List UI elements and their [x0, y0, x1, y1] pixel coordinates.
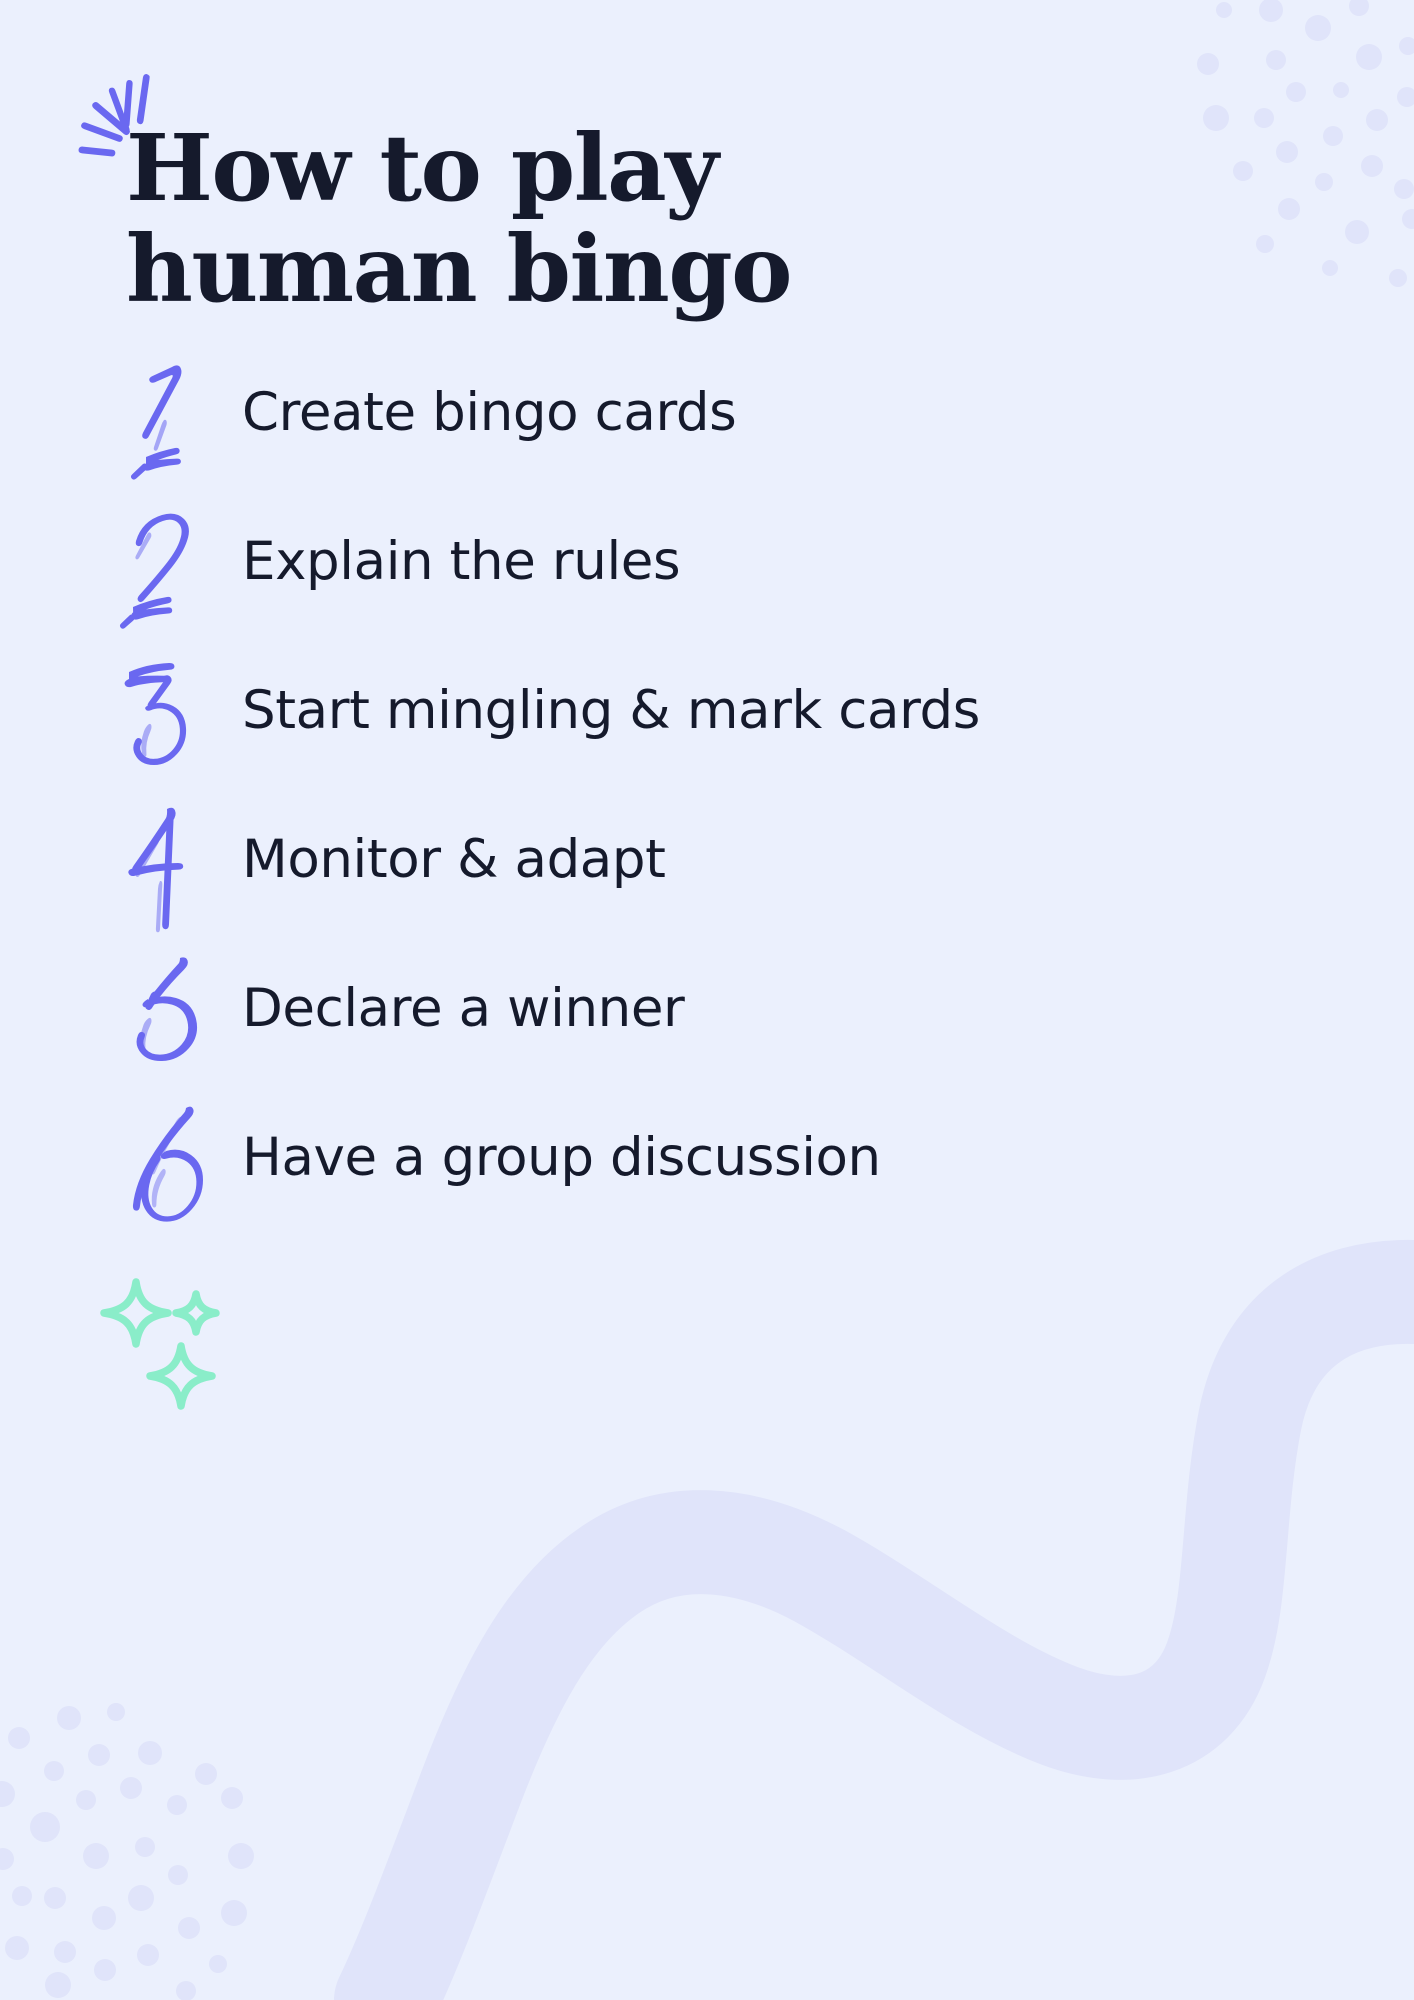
list-item: Monitor & adapt [120, 807, 1300, 956]
sparkle-stars-icon [96, 1268, 226, 1418]
step-number-3-icon [120, 658, 212, 790]
list-item: Have a group discussion [120, 1105, 1300, 1254]
step-number-6-icon [120, 1105, 212, 1237]
step-number-5-icon [120, 956, 212, 1088]
list-item: Explain the rules [120, 509, 1300, 658]
step-label: Monitor & adapt [242, 829, 666, 890]
step-label: Start mingling & mark cards [242, 680, 980, 741]
step-label: Create bingo cards [242, 382, 736, 443]
step-label: Have a group discussion [242, 1127, 881, 1188]
step-number-2-icon [120, 509, 212, 641]
title-line-2: human bingo [126, 219, 1026, 320]
steps-list: Create bingo cards Explain the rules [120, 360, 1300, 1254]
poster-content: How to play human bingo Creat [0, 0, 1414, 2000]
list-item: Declare a winner [120, 956, 1300, 1105]
poster: How to play human bingo Creat [0, 0, 1414, 2000]
step-label: Declare a winner [242, 978, 684, 1039]
step-label: Explain the rules [242, 531, 680, 592]
title-line-1: How to play [126, 118, 1026, 219]
step-number-1-icon [120, 360, 212, 492]
page-title: How to play human bingo [126, 118, 1026, 320]
list-item: Start mingling & mark cards [120, 658, 1300, 807]
list-item: Create bingo cards [120, 360, 1300, 509]
step-number-4-icon [120, 807, 212, 939]
